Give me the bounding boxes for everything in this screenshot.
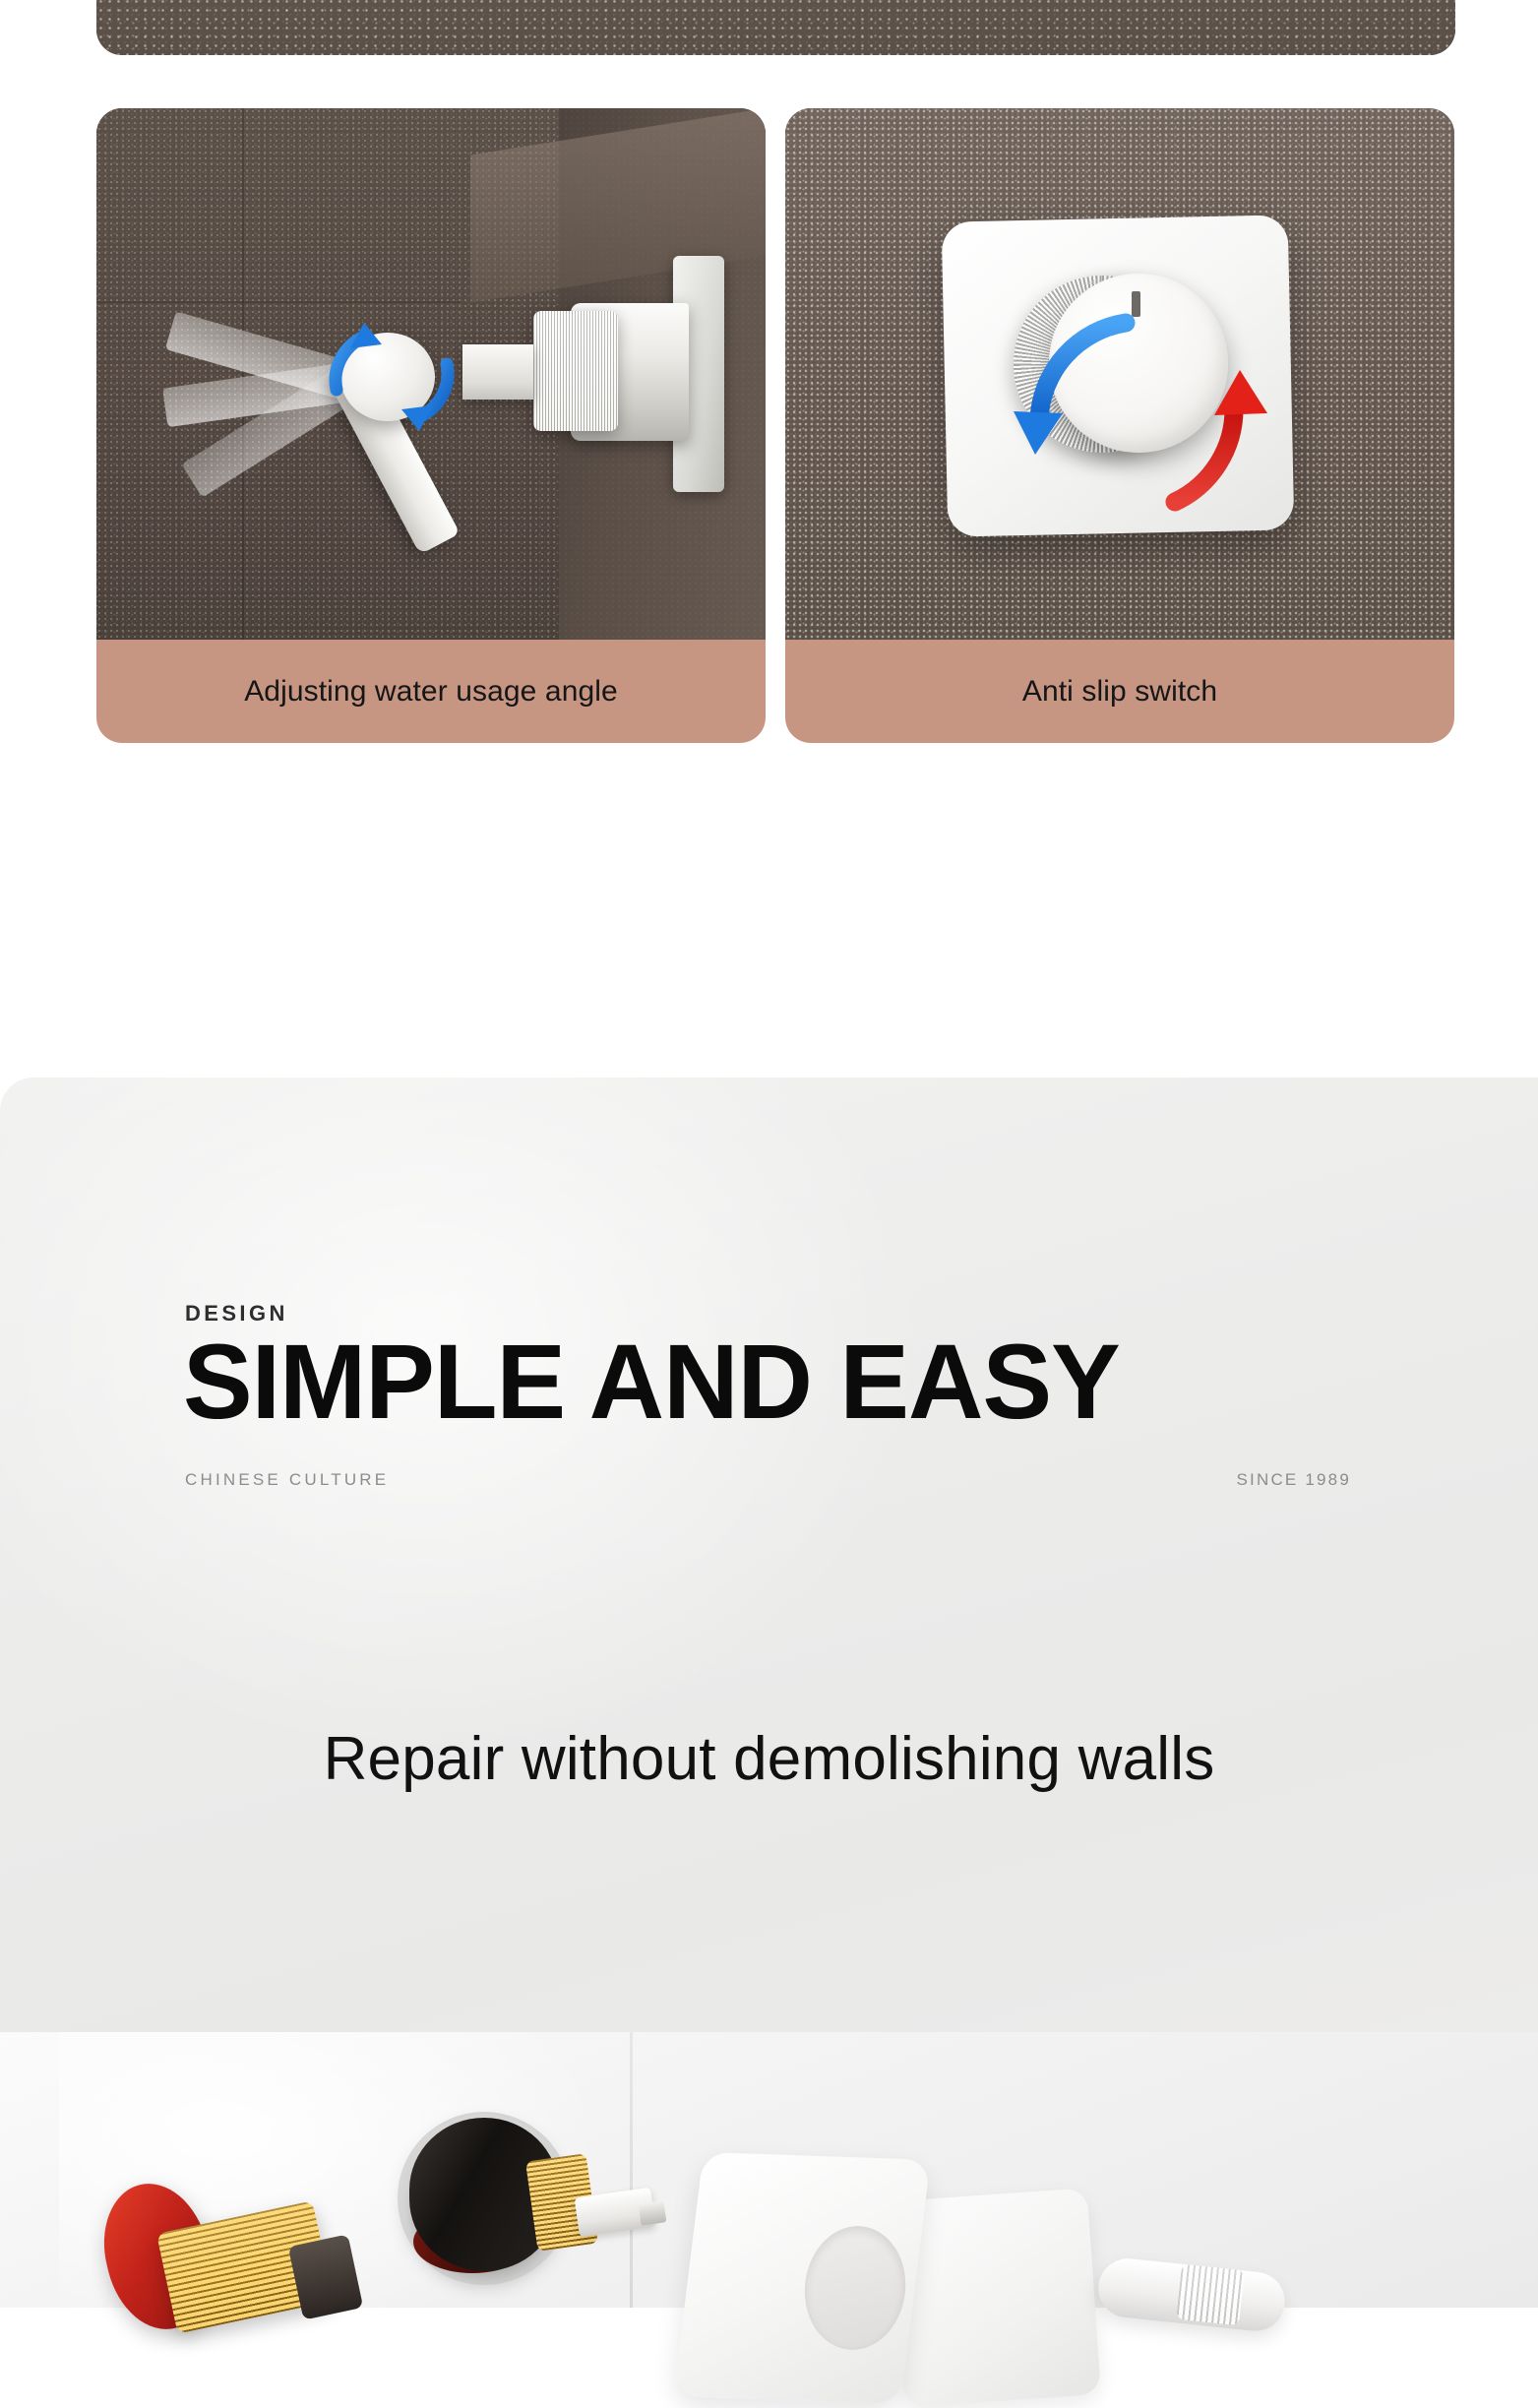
- hero-subtitle-right: SINCE 1989: [1237, 1470, 1352, 1490]
- hot-cold-rotation-arrows: [933, 226, 1326, 551]
- spout-knurl: [1176, 2264, 1245, 2325]
- caption-text: Anti slip switch: [1022, 675, 1217, 709]
- rotate-left-arrow-icon: [1014, 323, 1126, 455]
- feature-caption-row: Adjusting water usage angle Anti slip sw…: [96, 640, 1455, 743]
- top-cropped-photo-strip: [96, 0, 1455, 55]
- cartridge-stem-tip: [639, 2200, 667, 2225]
- caption-bar-left: Adjusting water usage angle: [96, 640, 766, 743]
- wall-seam: [242, 108, 244, 640]
- faucet-angle-photo: [96, 108, 766, 640]
- feature-card-adjusting-angle[interactable]: [96, 108, 766, 640]
- tile-texture: [96, 0, 1455, 55]
- caption-bar-right: Anti slip switch: [785, 640, 1454, 743]
- hero-subtitle-left: CHINESE CULTURE: [185, 1470, 389, 1490]
- hero-title: Repair without demolishing walls: [0, 1724, 1538, 1794]
- hero-headline: SIMPLE AND EASY: [183, 1328, 1120, 1435]
- wall-corner-edge: [630, 2032, 633, 2308]
- faucet-knurled-collar: [533, 311, 618, 431]
- caption-text: Adjusting water usage angle: [244, 675, 618, 709]
- rotate-right-arrow-icon: [1175, 370, 1267, 502]
- rotate-arrow-icon: [303, 295, 480, 463]
- feature-card-row: [96, 108, 1455, 640]
- feature-card-anti-slip-switch[interactable]: [785, 108, 1454, 640]
- anti-slip-knob-photo: [785, 108, 1454, 640]
